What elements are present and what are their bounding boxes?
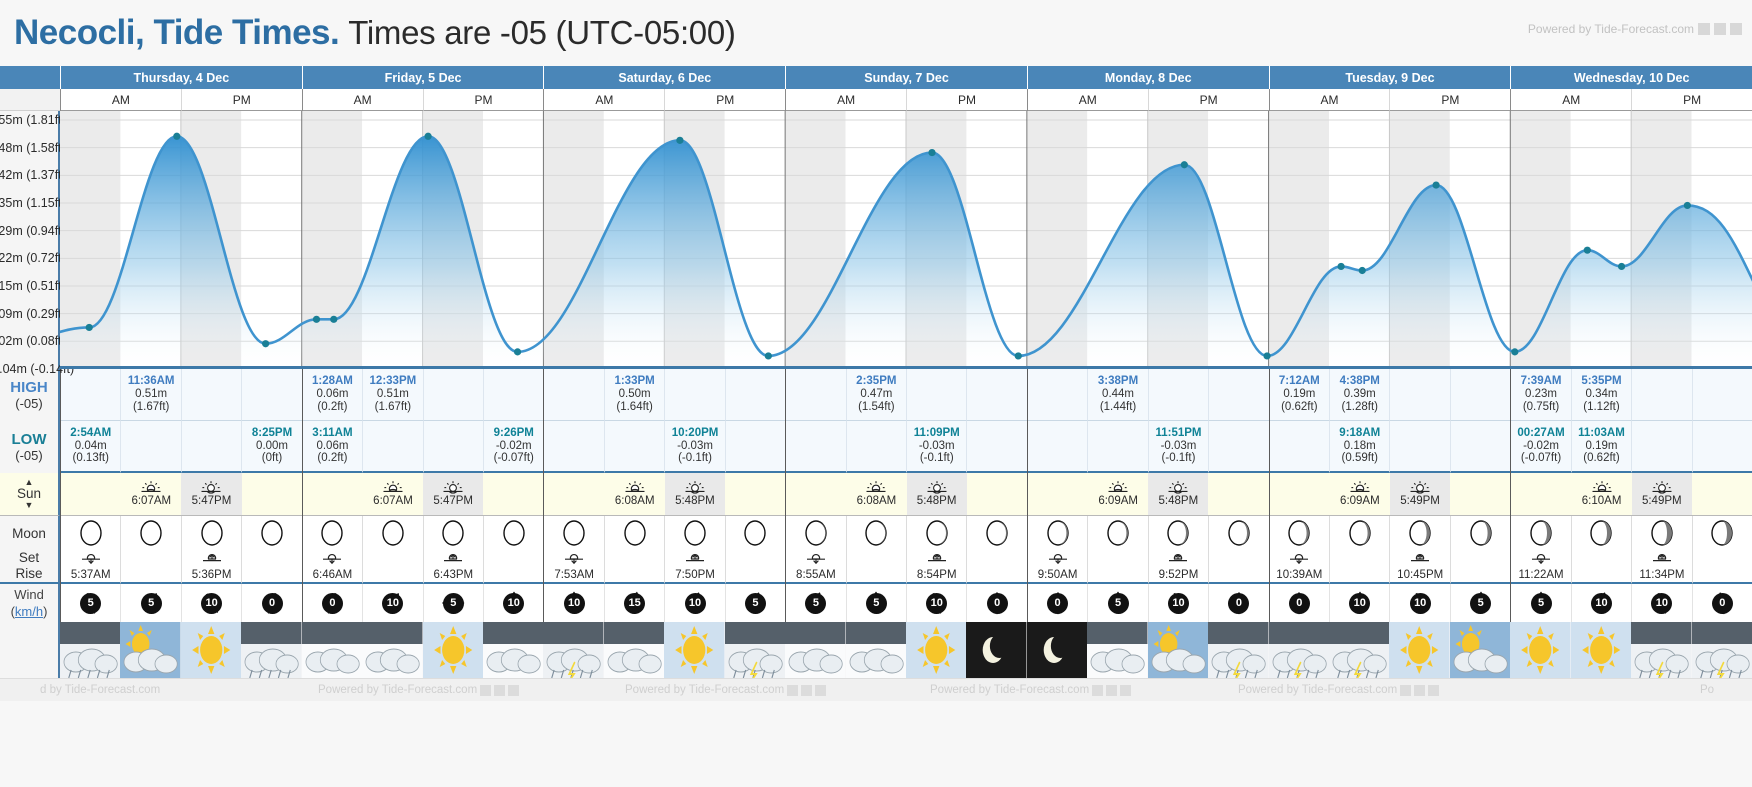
- high-day-2: 1:33PM0.50m(1.64ft): [543, 369, 785, 421]
- high-height-ft: (1.44ft): [1100, 401, 1136, 414]
- sunset-icon-wrap: [1167, 480, 1189, 495]
- moonset-icon-wrap: [563, 551, 585, 568]
- wind-cell: 10: [181, 584, 241, 622]
- powered-by-top-text: Powered by Tide-Forecast.com: [1528, 22, 1694, 36]
- high-cell: 12:33PM0.51m(1.67ft): [362, 369, 422, 421]
- moon-setrise-cell: 7:50PM: [664, 550, 724, 584]
- wind-cell: 5: [423, 584, 483, 622]
- weather-label: [0, 622, 60, 678]
- sun-day-5: 6:09AM5:49PM: [1269, 473, 1511, 516]
- weather-day-0: [60, 622, 302, 678]
- moon-phase-icon: [61, 516, 120, 550]
- high-cell: [483, 369, 543, 421]
- high-cell: [1692, 369, 1752, 421]
- sunset-time: 5:49PM: [1400, 495, 1440, 508]
- moonset-icon-wrap: [1530, 551, 1552, 568]
- wind-day-3: 55100: [785, 584, 1027, 622]
- weather-icon-sunny: [906, 622, 966, 678]
- wind-cell: 5: [786, 584, 845, 622]
- high-time: 5:35PM: [1581, 375, 1621, 388]
- low-cell: [1208, 421, 1268, 473]
- weather-icon-storm: [1329, 622, 1389, 678]
- wind-speed-badge: 10: [1410, 593, 1431, 614]
- wind-cell: 10: [1389, 584, 1449, 622]
- sunrise-icon-wrap: [1591, 480, 1613, 495]
- weather-day-5: [1269, 622, 1511, 678]
- ampm-cells: AMPMAMPMAMPMAMPMAMPMAMPMAMPM: [60, 89, 1752, 111]
- weather-icon-storm: [1269, 622, 1329, 678]
- high-height-ft: (1.54ft): [858, 401, 894, 414]
- day-header-2: Saturday, 6 Dec: [543, 66, 785, 89]
- high-tide-label: HIGH (-05): [0, 369, 60, 421]
- sunrise-icon: [624, 480, 646, 495]
- wind-speed-badge: 5: [1470, 593, 1491, 614]
- moonrise-icon: [1167, 551, 1189, 565]
- ampm-corner: [0, 89, 60, 111]
- low-height-m: 0.00m: [256, 440, 288, 453]
- footer-logo-square-icon: [815, 685, 826, 696]
- sunset-icon-wrap: [1409, 480, 1431, 495]
- moon-phase-icon: [1329, 516, 1389, 550]
- weather-icon-storm: [1631, 622, 1691, 678]
- sunrise-icon-wrap: [140, 480, 162, 495]
- wind-day-1: 010510: [302, 584, 544, 622]
- ampm-day-3: AMPM: [785, 89, 1027, 111]
- moon-phase-icon: [303, 516, 362, 550]
- wind-speed-badge: 10: [1349, 593, 1370, 614]
- sunset-icon: [926, 480, 948, 495]
- wind-cell: 5: [846, 584, 906, 622]
- low-height-ft: (-0.1ft): [920, 452, 954, 465]
- sun-label-text: Sun: [17, 487, 41, 501]
- moonset-icon-wrap: [80, 551, 102, 568]
- moonset-icon-wrap: [805, 551, 827, 568]
- moonset-icon: [1530, 551, 1552, 565]
- sun-cell: [786, 473, 846, 516]
- high-cell: [544, 369, 603, 421]
- high-time: 2:35PM: [856, 375, 896, 388]
- low-cell: [604, 421, 664, 473]
- wind-day-4: 05100: [1027, 584, 1269, 622]
- page-title: Necocli, Tide Times.: [14, 13, 339, 53]
- weather-icon-cloudy: [483, 622, 543, 678]
- wind-speed-badge: 0: [1289, 593, 1310, 614]
- low-time: 8:25PM: [252, 427, 292, 440]
- wind-cell: 10: [544, 584, 603, 622]
- sun-cell: 5:49PM: [1632, 473, 1692, 516]
- moon-phase-icon: [423, 516, 483, 550]
- tide-extreme-point-1: [173, 133, 180, 140]
- sun-cell: 5:47PM: [181, 473, 241, 516]
- wind-speed-badge: 0: [262, 593, 283, 614]
- low-cell: [725, 421, 785, 473]
- high-day-5: 7:12AM0.19m(0.62ft)4:38PM0.39m(1.28ft): [1269, 369, 1511, 421]
- high-time: 1:33PM: [614, 375, 654, 388]
- ampm-cell-am: AM: [544, 89, 664, 111]
- weather-icon-sunny: [181, 622, 241, 678]
- moon-setrise-cell: [120, 550, 180, 584]
- moon-setrise-cell: 6:46AM: [303, 550, 362, 584]
- wind-cell: 10: [1631, 584, 1691, 622]
- moon-setrise-cell: 8:55AM: [786, 550, 845, 584]
- moonset-icon: [805, 551, 827, 565]
- tide-extreme-point-2: [262, 340, 269, 347]
- wind-cell: 0: [1028, 584, 1087, 622]
- moon-day-2: [543, 516, 785, 550]
- tide-extreme-point-14: [1359, 267, 1366, 274]
- ampm-cell-am: AM: [1270, 89, 1390, 111]
- wind-speed-badge: 0: [322, 593, 343, 614]
- high-cell: [1631, 369, 1691, 421]
- high-time: 3:38PM: [1098, 375, 1138, 388]
- low-cell: [120, 421, 180, 473]
- low-height-m: 0.18m: [1344, 440, 1376, 453]
- moon-phase-icon: [1087, 516, 1147, 550]
- ampm-cell-pm: PM: [906, 89, 1027, 111]
- wind-cell: 5: [1511, 584, 1570, 622]
- moonset-icon: [563, 551, 585, 565]
- wind-label-text: Wind: [14, 587, 44, 603]
- high-day-1: 1:28AM0.06m(0.2ft)12:33PM0.51m(1.67ft): [302, 369, 544, 421]
- wind-cells: 5510001051010151055510005100010105510100: [60, 584, 1752, 622]
- high-cell: [181, 369, 241, 421]
- sun-cell: 6:10AM: [1572, 473, 1632, 516]
- ampm-cell-am: AM: [1511, 89, 1631, 111]
- moon-rise-label-text: Rise: [15, 566, 42, 582]
- high-tide-label-text: HIGH: [10, 379, 48, 396]
- moon-phase-icon: [1389, 516, 1449, 550]
- wind-unit-label: (km/h): [11, 604, 48, 619]
- sunset-icon: [1167, 480, 1189, 495]
- low-cell: [846, 421, 906, 473]
- weather-day-3: [785, 622, 1027, 678]
- moonrise-icon: [442, 551, 464, 565]
- day-header-1: Friday, 5 Dec: [302, 66, 544, 89]
- low-time: 11:51PM: [1155, 427, 1201, 440]
- high-height-m: 0.34m: [1585, 388, 1617, 401]
- low-height-ft: (-0.1ft): [1162, 452, 1196, 465]
- high-height-ft: (1.64ft): [616, 401, 652, 414]
- sun-cell: [483, 473, 543, 516]
- day-header-4: Monday, 8 Dec: [1027, 66, 1269, 89]
- ampm-cell-am: AM: [61, 89, 181, 111]
- sun-day-1: 6:07AM5:47PM: [302, 473, 544, 516]
- high-cell: 5:35PM0.34m(1.12ft): [1571, 369, 1631, 421]
- sunrise-icon-wrap: [382, 480, 404, 495]
- moon-phase-icon: [1028, 516, 1087, 550]
- low-day-1: 3:11AM0.06m(0.2ft)9:26PM-0.02m(-0.07ft): [302, 421, 544, 473]
- moon-phase-icon: [664, 516, 724, 550]
- moonset-icon: [80, 551, 102, 565]
- low-cell: 9:26PM-0.02m(-0.07ft): [483, 421, 543, 473]
- moonrise-time: 5:36PM: [192, 569, 232, 581]
- wind-speed-badge: 10: [685, 593, 706, 614]
- moonrise-icon: [1409, 551, 1431, 565]
- low-height-m: -0.03m: [919, 440, 955, 453]
- wind-speed-badge: 10: [1651, 593, 1672, 614]
- ampm-day-5: AMPM: [1269, 89, 1511, 111]
- footer-logo-square-icon: [1414, 685, 1425, 696]
- high-cell: 7:39AM0.23m(0.75ft): [1511, 369, 1570, 421]
- low-cell: [1389, 421, 1449, 473]
- weather-icon-clear-night: [966, 622, 1026, 678]
- high-cell: [61, 369, 120, 421]
- weather-icon-storm: [543, 622, 603, 678]
- moon-setrise-cell: [725, 550, 785, 584]
- moon-setrise-cell: 9:50AM: [1028, 550, 1087, 584]
- sunset-icon: [442, 480, 464, 495]
- wind-cell: 0: [1692, 584, 1752, 622]
- wind-unit-link[interactable]: km/h: [15, 604, 43, 619]
- ampm-day-1: AMPM: [302, 89, 544, 111]
- wind-speed-badge: 5: [1531, 593, 1552, 614]
- moonset-icon-wrap: [1288, 551, 1310, 568]
- high-height-ft: (1.67ft): [375, 401, 411, 414]
- high-height-m: 0.23m: [1525, 388, 1557, 401]
- tide-chart-y-axis: 0.55m (1.81ft)0.48m (1.58ft)0.42m (1.37f…: [0, 111, 60, 369]
- weather-icon-cloudy: [362, 622, 422, 678]
- footer-text: Powered by Tide-Forecast.com: [318, 684, 477, 696]
- high-time: 11:36AM: [128, 375, 175, 388]
- ampm-cell-pm: PM: [1389, 89, 1510, 111]
- moonrise-icon-wrap: [926, 551, 948, 568]
- high-day-4: 3:38PM0.44m(1.44ft): [1027, 369, 1269, 421]
- weather-icon-sunny: [664, 622, 724, 678]
- ampm-day-6: AMPM: [1510, 89, 1752, 111]
- moon-setrise-day-2: 7:53AM7:50PM: [543, 550, 785, 584]
- low-cell: [786, 421, 845, 473]
- footer-powered-by: d by Tide-Forecast.com: [40, 684, 160, 696]
- y-tick-label-4: 0.29m (0.94ft): [0, 224, 60, 238]
- low-cell: [544, 421, 603, 473]
- moon-phase-icon: [604, 516, 664, 550]
- sun-cells: 6:07AM5:47PM6:07AM5:47PM6:08AM5:48PM6:08…: [60, 473, 1752, 516]
- low-time: 11:03AM: [1578, 427, 1625, 440]
- wind-cell: 5: [1450, 584, 1510, 622]
- moon-phase-icon: [1270, 516, 1329, 550]
- sun-cell: [1208, 473, 1268, 516]
- sunset-icon: [1409, 480, 1431, 495]
- high-cell: 1:33PM0.50m(1.64ft): [604, 369, 664, 421]
- sunset-time: 5:48PM: [675, 495, 715, 508]
- high-time: 4:38PM: [1340, 375, 1380, 388]
- tide-extreme-point-0: [86, 324, 93, 331]
- tide-extreme-point-7: [676, 137, 683, 144]
- low-height-m: 0.04m: [75, 440, 107, 453]
- day-header-corner: [0, 66, 60, 89]
- moonrise-icon-wrap: [1651, 551, 1673, 568]
- moon-setrise-row: Set Rise 5:37AM5:36PM6:46AM6:43PM7:53AM7…: [0, 550, 1752, 584]
- wind-speed-badge: 5: [745, 593, 766, 614]
- footer-powered-by: Powered by Tide-Forecast.com: [1238, 684, 1439, 696]
- sun-day-2: 6:08AM5:48PM: [543, 473, 785, 516]
- wind-cell: 5: [61, 584, 120, 622]
- wind-label: Wind (km/h): [0, 584, 60, 622]
- tide-extreme-point-19: [1684, 202, 1691, 209]
- high-cell: 2:35PM0.47m(1.54ft): [846, 369, 906, 421]
- moon-phase-icon: [906, 516, 966, 550]
- sun-cell: [1692, 473, 1752, 516]
- sunrise-icon: [865, 480, 887, 495]
- high-time: 7:12AM: [1279, 375, 1320, 388]
- moon-setrise-cell: [1087, 550, 1147, 584]
- moon-phase-icon: [120, 516, 180, 550]
- high-height-ft: (0.62ft): [1281, 401, 1317, 414]
- tide-extreme-point-13: [1337, 263, 1344, 270]
- wind-cell: 15: [604, 584, 664, 622]
- moon-setrise-cell: [604, 550, 664, 584]
- low-cell: 11:09PM-0.03m(-0.1ft): [906, 421, 966, 473]
- sunset-icon-wrap: [684, 480, 706, 495]
- moon-setrise-cell: 5:36PM: [181, 550, 241, 584]
- sun-cell: 6:09AM: [1088, 473, 1148, 516]
- low-height-ft: (0.59ft): [1342, 452, 1378, 465]
- weather-icon-cloudy: [846, 622, 906, 678]
- page-header: Necocli, Tide Times. Times are -05 (UTC-…: [0, 0, 1752, 66]
- footer-logo-square-icon: [494, 685, 505, 696]
- weather-icon-cloudy: [302, 622, 362, 678]
- sunset-time: 5:47PM: [192, 495, 232, 508]
- high-cell: 11:36AM0.51m(1.67ft): [120, 369, 180, 421]
- logo-square-icon: [1714, 23, 1726, 35]
- moonrise-time: 10:45PM: [1397, 569, 1443, 581]
- moonset-icon-wrap: [321, 551, 343, 568]
- moon-phase-icon: [241, 516, 301, 550]
- footer-logo-square-icon: [508, 685, 519, 696]
- moon-set-label-text: Set: [19, 550, 39, 566]
- moonrise-time: 6:43PM: [433, 569, 473, 581]
- moon-setrise-cell: [1208, 550, 1268, 584]
- low-day-2: 10:20PM-0.03m(-0.1ft): [543, 421, 785, 473]
- moonrise-icon: [1651, 551, 1673, 565]
- moon-setrise-cell: 10:45PM: [1389, 550, 1449, 584]
- sunset-icon: [200, 480, 222, 495]
- footer-text: d by Tide-Forecast.com: [40, 684, 160, 696]
- wind-unit-close: ): [43, 604, 47, 619]
- ampm-day-0: AMPM: [60, 89, 302, 111]
- sun-day-6: 6:10AM5:49PM: [1510, 473, 1752, 516]
- wind-day-2: 1015105: [543, 584, 785, 622]
- wind-cell: 10: [906, 584, 966, 622]
- wind-speed-badge: 5: [866, 593, 887, 614]
- sunrise-icon: [1591, 480, 1613, 495]
- high-cell: [423, 369, 483, 421]
- ampm-cell-pm: PM: [1631, 89, 1752, 111]
- y-tick-label-5: 0.22m (0.72ft): [0, 251, 60, 265]
- ampm-cell-pm: PM: [1148, 89, 1269, 111]
- ampm-header-row: AMPMAMPMAMPMAMPMAMPMAMPMAMPM: [0, 89, 1752, 111]
- sunrise-icon: [1349, 480, 1371, 495]
- sun-day-3: 6:08AM5:48PM: [785, 473, 1027, 516]
- moon-setrise-cell: [1450, 550, 1510, 584]
- day-header-3: Sunday, 7 Dec: [785, 66, 1027, 89]
- tide-extreme-point-11: [1181, 161, 1188, 168]
- low-height-ft: (-0.07ft): [494, 452, 534, 465]
- low-cell: 3:11AM0.06m(0.2ft): [303, 421, 362, 473]
- low-cell: [423, 421, 483, 473]
- sun-cell: [967, 473, 1027, 516]
- high-height-m: 0.39m: [1344, 388, 1376, 401]
- high-cell: [786, 369, 845, 421]
- low-time: 11:09PM: [914, 427, 960, 440]
- moon-day-1: [302, 516, 544, 550]
- moon-setrise-cell: 10:39AM: [1270, 550, 1329, 584]
- low-time: 3:11AM: [312, 427, 352, 440]
- moonset-time: 9:50AM: [1038, 569, 1078, 581]
- tide-extreme-point-3: [313, 316, 320, 323]
- tide-extreme-point-15: [1432, 181, 1439, 188]
- wind-day-6: 510100: [1510, 584, 1752, 622]
- tide-extreme-point-9: [928, 149, 935, 156]
- y-tick-label-7: 0.09m (0.29ft): [0, 307, 60, 321]
- sunrise-icon: [1107, 480, 1129, 495]
- footer-logo-square-icon: [787, 685, 798, 696]
- low-time: 00:27AM: [1517, 427, 1564, 440]
- moonset-icon: [1047, 551, 1069, 565]
- weather-row: [0, 622, 1752, 678]
- low-cell: 00:27AM-0.02m(-0.07ft): [1511, 421, 1570, 473]
- sunset-time: 5:48PM: [917, 495, 957, 508]
- moonrise-icon-wrap: [442, 551, 464, 568]
- moon-setrise-cell: 9:52PM: [1148, 550, 1208, 584]
- moon-setrise-day-5: 10:39AM10:45PM: [1269, 550, 1511, 584]
- moonset-time: 6:46AM: [313, 569, 353, 581]
- high-height-m: 0.19m: [1283, 388, 1315, 401]
- ampm-cell-am: AM: [1028, 89, 1148, 111]
- wind-day-0: 55100: [60, 584, 302, 622]
- wind-speed-badge: 0: [1047, 593, 1068, 614]
- high-cell: [664, 369, 724, 421]
- moon-phase-cells: [60, 516, 1752, 550]
- page-footer: d by Tide-Forecast.comPowered by Tide-Fo…: [0, 678, 1752, 701]
- wind-cell: 10: [483, 584, 543, 622]
- moon-day-5: [1269, 516, 1511, 550]
- sunrise-icon: [140, 480, 162, 495]
- moon-setrise-cell: [483, 550, 543, 584]
- moon-setrise-cell: [362, 550, 422, 584]
- moon-phase-icon: [544, 516, 603, 550]
- weather-icon-sunny: [1571, 622, 1631, 678]
- moon-phase-icon: [786, 516, 845, 550]
- footer-powered-by: Powered by Tide-Forecast.com: [625, 684, 826, 696]
- moon-phase-icon: [1208, 516, 1268, 550]
- low-height-ft: (0.62ft): [1583, 452, 1619, 465]
- moon-setrise-day-3: 8:55AM8:54PM: [785, 550, 1027, 584]
- y-tick-label-3: 0.35m (1.15ft): [0, 196, 60, 210]
- day-header-0: Thursday, 4 Dec: [60, 66, 302, 89]
- low-day-4: 11:51PM-0.03m(-0.1ft): [1027, 421, 1269, 473]
- y-tick-label-9: -0.04m (-0.14ft): [0, 362, 60, 376]
- day-header-cells: Thursday, 4 DecFriday, 5 DecSaturday, 6 …: [60, 66, 1752, 89]
- high-height-m: 0.44m: [1102, 388, 1134, 401]
- moonset-icon: [1288, 551, 1310, 565]
- y-tick-label-0: 0.55m (1.81ft): [0, 113, 60, 127]
- moon-phase-icon: [1692, 516, 1752, 550]
- moon-phase-icon: [1511, 516, 1570, 550]
- high-height-m: 0.47m: [860, 388, 892, 401]
- y-tick-label-1: 0.48m (1.58ft): [0, 141, 60, 155]
- weather-icon-cloudy: [785, 622, 845, 678]
- tide-extreme-point-5: [425, 133, 432, 140]
- wind-speed-badge: 5: [141, 593, 162, 614]
- wind-cell: 0: [1208, 584, 1268, 622]
- low-tide-label: LOW (-05): [0, 421, 60, 473]
- low-height-m: -0.03m: [1161, 440, 1197, 453]
- sunset-time: 5:48PM: [1159, 495, 1199, 508]
- wind-cell: 5: [725, 584, 785, 622]
- tide-chart-plot: [60, 111, 1752, 369]
- moon-phase-row: Moon: [0, 516, 1752, 550]
